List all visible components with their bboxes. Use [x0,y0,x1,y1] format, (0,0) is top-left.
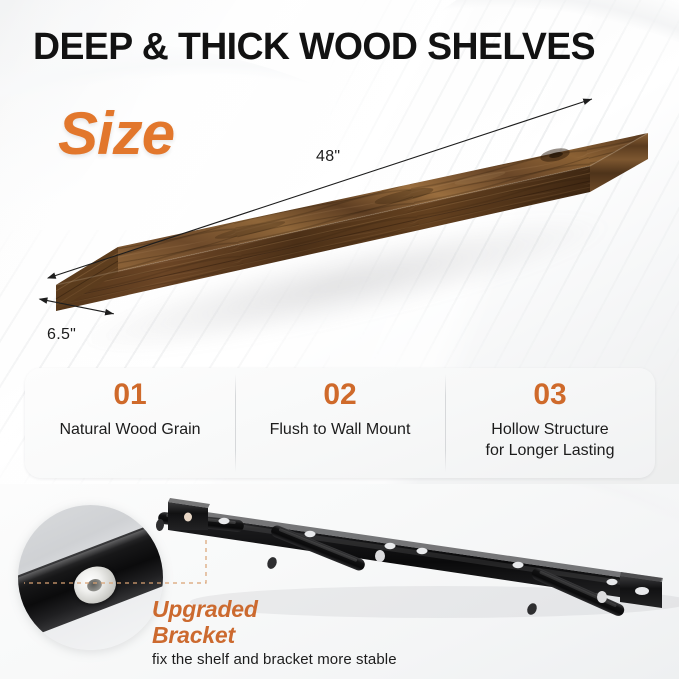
feature-label: Flush to Wall Mount [264,419,417,440]
feature-item-01[interactable]: 01 Natural Wood Grain [25,368,235,478]
bracket-subtitle: fix the shelf and bracket more stable [152,650,397,669]
product-infographic: DEEP & THICK WOOD SHELVES Size [0,0,679,679]
feature-number: 01 [113,378,146,412]
feature-item-03[interactable]: 03 Hollow Structure for Longer Lasting [445,368,655,478]
features-card: 01 Natural Wood Grain 02 Flush to Wall M… [25,368,655,478]
shelf-illustration: 48" 6.5" [0,0,679,400]
bracket-heading-line2: Bracket [152,622,235,648]
feature-item-02[interactable]: 02 Flush to Wall Mount [235,368,445,478]
feature-label: Natural Wood Grain [53,419,206,440]
length-dimension-label: 48" [316,148,340,166]
feature-number: 03 [533,378,566,412]
dimension-lines [0,0,679,400]
bracket-heading-line1: Upgraded [152,596,258,622]
feature-number: 02 [323,378,356,412]
bracket-setscrew-closeup-inset [18,505,163,650]
feature-label: Hollow Structure for Longer Lasting [480,419,621,461]
depth-dimension-label: 6.5" [47,326,76,344]
bracket-heading: Upgraded Bracket [152,596,258,648]
